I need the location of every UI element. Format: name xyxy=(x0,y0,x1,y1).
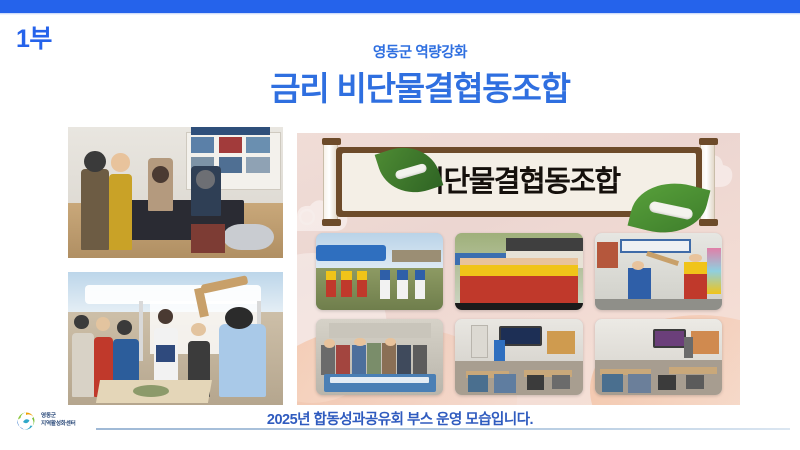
photo-lecture-room-1 xyxy=(455,319,582,396)
part-label: 1부 xyxy=(16,27,52,52)
footer-logo-line2: 지역활성화센터 xyxy=(41,421,76,429)
photo-indoor-booth xyxy=(68,127,283,258)
yeongdong-center-swirl-logo xyxy=(16,411,36,431)
slide-canvas: 1부 영동군 역량강화 금리 비단물결협동조합 xyxy=(0,0,800,450)
photo-collage xyxy=(316,233,722,395)
photo-founding-meeting xyxy=(316,319,443,396)
footer-logo-text: 영동군 지역활성화센터 xyxy=(41,413,76,428)
top-accent-bar-shadow xyxy=(0,13,800,15)
footer-logo-line1: 영동군 xyxy=(41,413,76,421)
slide-subtitle: 영동군 역량강화 xyxy=(170,41,670,62)
scroll-banner: 비단물결협동조합 xyxy=(323,139,715,225)
page-title: 금리 비단물결협동조합 xyxy=(130,70,710,108)
footer-divider xyxy=(96,428,790,430)
photo-circle-dance xyxy=(316,233,443,310)
photo-indoor-booth-art xyxy=(68,127,283,258)
photo-choir-hanbok xyxy=(455,233,582,310)
photo-tteokmechigi-art xyxy=(68,272,283,405)
top-accent-bar xyxy=(0,0,800,13)
footer-logo: 영동군 지역활성화센터 xyxy=(16,411,76,431)
photo-lecture-room-2 xyxy=(595,319,722,396)
founding-meeting-banner xyxy=(324,374,436,392)
slide-caption: 2025년 합동성과공유회 부스 운영 모습입니다. xyxy=(120,408,680,429)
photo-tteok-pounding xyxy=(595,233,722,310)
photo-tteokmechigi xyxy=(68,272,283,405)
cooperative-name-text: 비단물결협동조합 xyxy=(418,168,619,197)
cooperative-banner-panel: 비단물결협동조합 xyxy=(297,133,740,405)
